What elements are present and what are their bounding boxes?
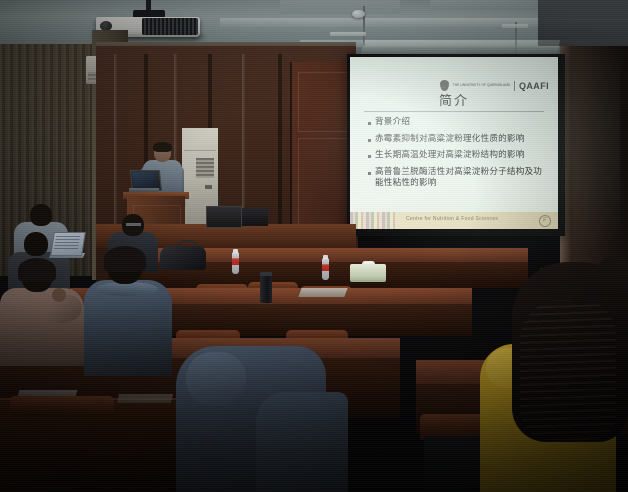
bullet-marker-icon	[368, 122, 371, 125]
slide-bullet-item: 高普鲁兰脱酶活性对高粱淀粉分子结构及功能性粘性的影响	[368, 167, 546, 189]
slide-bullet-item: 赤霉素抑制对高粱淀粉理化性质的影响	[368, 134, 546, 145]
ceiling-panel	[280, 0, 400, 14]
slide-bullet-text: 赤霉素抑制对高粱淀粉理化性质的影响	[375, 134, 525, 145]
footer-centre-name: Centre for Nutrition & Food Sciences	[406, 216, 498, 222]
slide-title-divider	[364, 111, 544, 112]
slide-bullet-text: 高普鲁兰脱酶活性对高粱淀粉分子结构及功能性粘性的影响	[375, 167, 546, 189]
counter-equipment	[242, 208, 268, 226]
water-bottle	[232, 252, 239, 274]
person-hand	[52, 288, 66, 302]
person-hair-strands	[520, 300, 616, 440]
audience-laptop-screen-text	[54, 236, 80, 250]
presenter-laptop-screen[interactable]	[132, 172, 157, 187]
projection-screen[interactable]: THE UNIVERSITY OF QUEENSLAND QAAFI 简介 背景…	[350, 57, 558, 229]
smoke-detector-icon	[352, 10, 365, 18]
water-bottle	[322, 258, 329, 280]
bullet-marker-icon	[368, 172, 371, 175]
slide-bullet-text: 生长期高温处理对高粱淀粉结构的影响	[375, 150, 525, 161]
counter-equipment	[206, 206, 242, 228]
slide-footer-band: Centre for Nutrition & Food Sciences F	[350, 212, 558, 229]
glasses-icon	[126, 223, 141, 226]
slide-bullet-list: 背景介绍 赤霉素抑制对高粱淀粉理化性质的影响 生长期高温处理对高粱淀粉结构的影响…	[368, 117, 546, 194]
logo-divider	[514, 81, 515, 91]
person-hair	[18, 258, 56, 282]
door-inset-top	[298, 72, 350, 132]
slide-title: 简介	[350, 90, 558, 109]
person-head	[30, 204, 52, 226]
university-name: THE UNIVERSITY OF QUEENSLAND	[453, 84, 510, 88]
tissue-box	[350, 264, 386, 282]
slide-bullet-text: 背景介绍	[375, 117, 410, 128]
papers	[298, 288, 347, 297]
footer-badge-icon: F	[539, 215, 551, 227]
bullet-marker-icon	[368, 155, 371, 158]
bullet-marker-icon	[368, 139, 371, 142]
black-bag	[160, 246, 206, 270]
person-highlight	[186, 352, 246, 406]
ceiling-light	[502, 24, 528, 28]
thermos-cap	[260, 272, 272, 276]
person-sleeve	[256, 392, 348, 492]
projector-vent	[142, 18, 198, 35]
cabinet-vent	[196, 158, 214, 178]
thermos-flask	[260, 275, 272, 303]
presentation-room-photo: 简介 QAAFI THE UNIVERSITY OF QUEENSLAND QA…	[0, 0, 628, 492]
presenter-hair	[153, 142, 172, 152]
papers	[117, 394, 173, 403]
cabinet-seam	[184, 150, 216, 151]
person-head	[24, 232, 48, 256]
cabinet-button[interactable]	[205, 185, 212, 189]
person-hair	[104, 246, 146, 272]
ceiling-light	[330, 32, 366, 36]
footer-color-stripes	[350, 212, 396, 229]
person-collar	[96, 282, 158, 296]
chair-foreground-left[interactable]	[10, 396, 114, 416]
qaafi-logo-text: QAAFI	[519, 81, 549, 91]
slide-bullet-item: 背景介绍	[368, 117, 546, 128]
slide-bullet-item: 生长期高温处理对高粱淀粉结构的影响	[368, 150, 546, 161]
